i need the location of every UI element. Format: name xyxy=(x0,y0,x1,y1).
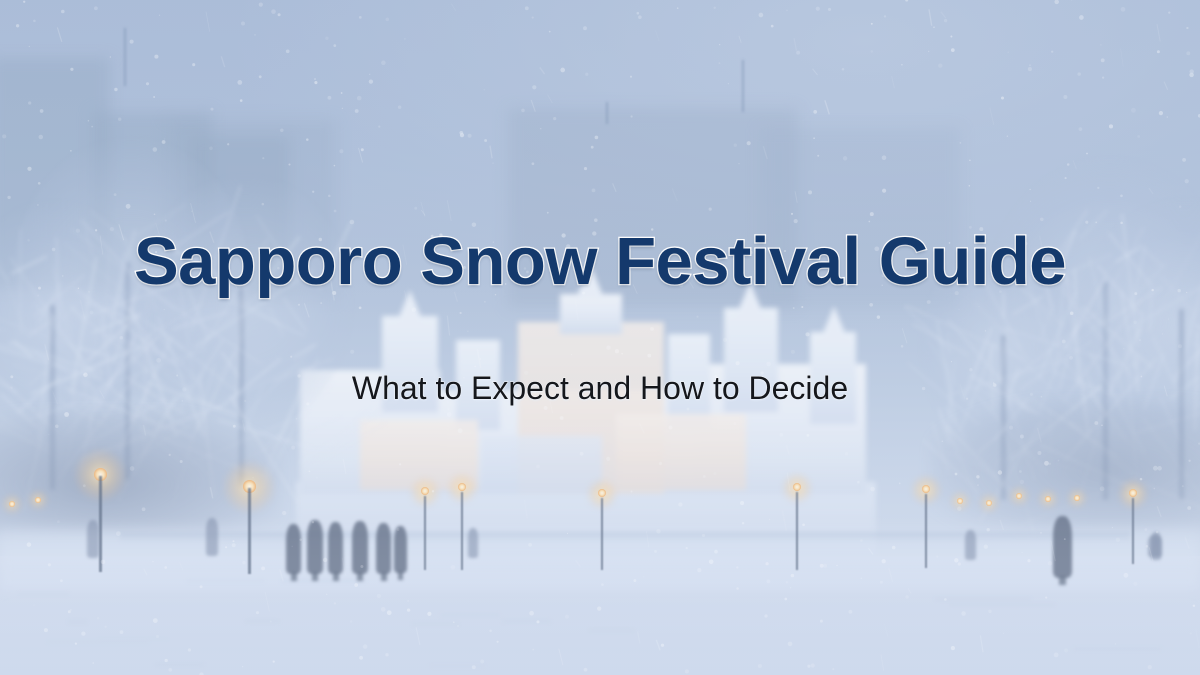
tree-canopy xyxy=(0,199,150,440)
lamp-bulb-icon xyxy=(35,497,41,503)
tree-branch xyxy=(990,343,994,410)
tree-branch xyxy=(27,362,58,387)
tree-branch xyxy=(905,304,1027,361)
tree-branch xyxy=(947,438,1002,485)
tree-branch xyxy=(1130,245,1146,310)
sky-backdrop xyxy=(0,0,1200,675)
tree-branch xyxy=(220,351,240,377)
lamp-bulb-icon xyxy=(598,489,606,497)
tree-branch xyxy=(0,321,72,367)
snow-track-mark xyxy=(281,580,366,582)
tree-branch xyxy=(125,376,184,415)
atmospheric-haze xyxy=(0,0,1200,675)
base-plinth xyxy=(296,482,876,556)
tree-branch xyxy=(1121,214,1139,347)
lamp-6 xyxy=(771,478,823,576)
tree-branch xyxy=(85,302,129,319)
tree-branch xyxy=(117,336,173,455)
tree-branch xyxy=(73,347,107,419)
tree-branch xyxy=(1102,253,1126,277)
tree-branch xyxy=(903,305,953,353)
tree-branch xyxy=(74,287,176,365)
tree-branch xyxy=(1160,275,1194,312)
tree-branch xyxy=(1075,375,1115,510)
tree-right-1 xyxy=(1000,170,1200,500)
tree-branch xyxy=(959,343,996,431)
lamp-bulb-icon xyxy=(1074,495,1080,501)
lamp-glow xyxy=(74,449,126,501)
tree-branch xyxy=(1195,324,1200,349)
tree-branch xyxy=(56,375,136,480)
tree-branch xyxy=(117,295,158,351)
lower-arch xyxy=(482,436,602,494)
tree-branch xyxy=(1193,416,1200,517)
tree-branch xyxy=(65,330,155,435)
tree-branch xyxy=(145,404,189,429)
tree-branch xyxy=(69,305,86,324)
tree-branch xyxy=(1033,246,1074,288)
snow-track-mark xyxy=(412,623,459,625)
tree-branch xyxy=(977,395,1048,474)
tree-branch xyxy=(975,302,1032,363)
tree-branch xyxy=(100,310,112,389)
lamp-14 xyxy=(934,494,986,562)
lamp-glow xyxy=(782,473,812,503)
tree-branch xyxy=(260,384,334,452)
tree-branch xyxy=(85,229,93,256)
tree-branch xyxy=(1075,306,1117,344)
tree-branch xyxy=(172,364,216,506)
visitor-bench xyxy=(1148,535,1162,557)
tree-branch xyxy=(962,327,993,400)
hero-banner: Sapporo Snow Festival Guide What to Expe… xyxy=(0,0,1200,675)
tree-branch xyxy=(201,238,269,349)
tree-branch xyxy=(138,359,194,380)
tree-branch xyxy=(1142,483,1200,531)
tree-branch xyxy=(1039,311,1051,342)
building-silhouette xyxy=(0,58,110,288)
snow-track-mark xyxy=(186,580,266,582)
tree-branch xyxy=(1108,232,1151,285)
tree-branch xyxy=(282,297,308,333)
tree-branch xyxy=(1042,209,1088,279)
tree-branch xyxy=(0,402,35,444)
tree-branch xyxy=(1101,286,1164,326)
antenna-mast xyxy=(742,60,744,112)
lamp-glow xyxy=(1009,486,1029,506)
tree-branch xyxy=(1172,248,1200,338)
tree-branch xyxy=(907,362,980,426)
lamp-glow xyxy=(1067,488,1087,508)
tree-branch xyxy=(1028,349,1067,373)
tree-branch xyxy=(981,277,1022,349)
tree-branch xyxy=(224,290,282,325)
tree-branch xyxy=(141,285,261,364)
tree-branch xyxy=(1147,225,1200,332)
tree-branch xyxy=(84,302,204,373)
tree-branch xyxy=(1005,245,1060,284)
main-body xyxy=(332,390,842,494)
tree-branch xyxy=(107,334,167,357)
tree-branch xyxy=(922,439,980,494)
tree-branch xyxy=(216,358,281,411)
tree-branch xyxy=(33,351,92,387)
visitor-group-c xyxy=(328,522,343,574)
tree-branch xyxy=(1002,292,1004,318)
tree-branch xyxy=(0,414,54,454)
tree-branch xyxy=(27,321,50,337)
tree-branch xyxy=(70,256,97,394)
tree-branch xyxy=(90,210,130,243)
tree-canopy xyxy=(13,137,248,421)
tree-trunk xyxy=(239,288,244,486)
tree-branch xyxy=(85,405,221,459)
tree-branch xyxy=(109,296,186,350)
tree-branch xyxy=(1088,256,1124,394)
tree-branch xyxy=(148,382,240,417)
tree-branch xyxy=(214,326,250,384)
lamp-post xyxy=(1132,498,1134,564)
tree-branch xyxy=(16,377,60,414)
tree-branch xyxy=(947,319,1030,413)
tree-branch xyxy=(927,339,980,418)
tree-branch xyxy=(931,422,950,475)
tree-branch xyxy=(948,332,951,441)
tree-branch xyxy=(0,393,33,434)
tree-branch xyxy=(241,385,263,441)
tree-branch xyxy=(1054,463,1134,489)
visitor-group-d xyxy=(352,521,368,574)
tree-branch xyxy=(158,335,202,387)
tree-branch xyxy=(1019,253,1058,379)
snow-track-mark xyxy=(155,664,204,666)
tree-branch xyxy=(1194,331,1198,431)
tree-branch xyxy=(155,211,229,260)
building-silhouette xyxy=(92,112,212,292)
snow-track-mark xyxy=(18,593,69,595)
lamp-bulb-icon xyxy=(458,483,466,491)
snow-track-mark xyxy=(440,614,500,616)
lamp-8 xyxy=(993,489,1045,569)
tree-canopy xyxy=(1079,198,1200,447)
tree-branch xyxy=(1000,423,1036,537)
lamp-bulb-icon xyxy=(922,485,930,493)
lamp-bulb-icon xyxy=(1016,493,1022,499)
tree-branch xyxy=(190,412,309,464)
lamp-bulb-icon xyxy=(1045,496,1051,502)
tree-branch xyxy=(318,221,352,289)
tree-branch xyxy=(151,322,242,396)
tree-branch xyxy=(170,382,193,407)
tree-branch xyxy=(217,419,314,450)
lamp-post xyxy=(99,476,102,572)
tree-branch xyxy=(79,348,101,486)
tree-branch xyxy=(172,238,195,381)
tree-branch xyxy=(1069,422,1155,488)
lamp-bulb-icon xyxy=(957,498,963,504)
tree-branch xyxy=(1196,318,1200,367)
lamp-post xyxy=(796,492,798,570)
foreground-shrub-mass-left xyxy=(0,412,280,532)
tree-branch xyxy=(1096,264,1142,316)
tree-branch xyxy=(1030,397,1120,459)
lamp-4 xyxy=(436,478,488,576)
tree-branch xyxy=(1127,263,1166,303)
tree-branch xyxy=(2,420,52,447)
lamp-5 xyxy=(576,484,628,576)
tree-branch xyxy=(1043,277,1054,312)
tree-branch xyxy=(20,228,22,336)
lamp-10 xyxy=(1051,491,1103,567)
tree-branch xyxy=(1037,291,1078,380)
lamp-9 xyxy=(1022,492,1074,566)
lamp-glow xyxy=(1118,479,1148,509)
tree-branch xyxy=(1107,227,1144,294)
tree-trunk xyxy=(50,305,55,490)
lamp-bulb-icon xyxy=(9,501,15,507)
tree-branch xyxy=(1110,326,1142,391)
tree-branch xyxy=(84,278,192,318)
lamp-post xyxy=(248,488,251,574)
tree-branch xyxy=(121,335,157,375)
tree-branch xyxy=(912,323,969,356)
tree-branch xyxy=(1078,209,1108,241)
tree-branch xyxy=(65,437,147,465)
tree-branch xyxy=(998,371,1036,481)
tree-right-2 xyxy=(1090,210,1200,500)
tree-branch xyxy=(302,422,387,473)
tree-branch xyxy=(206,416,343,475)
tree-branch xyxy=(1019,341,1092,391)
visitor-group-b xyxy=(307,520,323,574)
tree-branch xyxy=(263,365,311,475)
tree-branch xyxy=(1195,347,1200,389)
tree-branch xyxy=(946,426,1012,493)
tree-branch xyxy=(938,407,950,445)
tree-branch xyxy=(1003,342,1076,410)
tree-branch xyxy=(0,310,124,366)
tree-branch xyxy=(31,346,142,395)
visitor-group-a xyxy=(286,524,301,574)
lamp-glow xyxy=(950,491,970,511)
snow-track-mark xyxy=(98,638,168,640)
tree-branch xyxy=(993,256,1053,325)
snow-track-mark xyxy=(429,665,485,667)
tree-branch xyxy=(293,344,316,359)
tree-branch xyxy=(48,293,89,334)
spire-mid xyxy=(576,264,604,298)
tree-branch xyxy=(85,320,100,388)
tree-branch xyxy=(1168,376,1197,401)
tree-branch xyxy=(229,395,299,504)
tree-branch xyxy=(1061,357,1128,440)
lamp-bulb-icon xyxy=(421,487,429,495)
lamp-11 xyxy=(1107,484,1159,570)
tree-branch xyxy=(111,388,210,476)
tree-branch xyxy=(195,350,237,433)
tree-branch xyxy=(0,342,59,434)
tree-branch xyxy=(8,341,104,374)
tree-branch xyxy=(1157,426,1200,490)
tree-branch xyxy=(1136,397,1200,434)
visitor-mid xyxy=(468,528,478,558)
tree-branch xyxy=(1172,338,1200,381)
snow-track-mark xyxy=(47,641,149,643)
lamp-glow xyxy=(223,461,275,513)
tree-branch xyxy=(30,402,78,420)
tree-branch xyxy=(12,364,165,409)
tree-branch xyxy=(52,265,74,349)
park-railing xyxy=(120,532,1130,541)
tree-branch xyxy=(166,245,237,287)
lamp-post xyxy=(925,494,927,568)
tree-branch xyxy=(55,393,82,519)
tree-branch xyxy=(1135,353,1139,393)
tree-branch xyxy=(100,250,110,381)
tree-branch xyxy=(1179,342,1183,409)
tree-branch xyxy=(1050,407,1052,476)
warm-relief-right xyxy=(616,414,746,490)
tree-branch xyxy=(78,346,110,357)
left-wing xyxy=(300,370,440,494)
tree-branch xyxy=(198,374,214,496)
tree-branch xyxy=(1058,306,1083,390)
tree-branch xyxy=(1012,296,1044,316)
snow-track-mark xyxy=(502,620,551,622)
tree-branch xyxy=(1051,230,1076,286)
tree-branch xyxy=(9,257,92,373)
tree-branch xyxy=(172,311,229,330)
visitor-right-far xyxy=(965,530,976,560)
lamp-12 xyxy=(0,497,38,569)
tree-branch xyxy=(1001,327,1122,365)
building-silhouette xyxy=(508,108,798,308)
tree-branch xyxy=(94,334,137,413)
snow-ground xyxy=(0,556,1200,675)
lamp-glow xyxy=(28,490,48,510)
tree-branch xyxy=(121,427,188,468)
tree-branch xyxy=(1050,254,1111,280)
lamp-bulb-icon xyxy=(1129,489,1137,497)
tree-branch xyxy=(1009,385,1102,461)
tree-branch xyxy=(1039,444,1144,494)
tree-branch xyxy=(1109,358,1143,382)
snow-track-mark xyxy=(68,621,86,623)
right-wing xyxy=(700,364,866,494)
tree-branch xyxy=(0,356,17,393)
center-keep xyxy=(518,322,664,494)
tree-branch xyxy=(1052,370,1120,398)
tree-branch xyxy=(1022,288,1065,327)
tree-branch xyxy=(0,347,101,379)
tree-branch xyxy=(979,421,1043,521)
lamp-glow xyxy=(447,473,477,503)
lamp-3 xyxy=(399,482,451,576)
visitor-far-left xyxy=(87,520,99,558)
tree-branch xyxy=(229,299,305,336)
tree-branch xyxy=(33,274,84,316)
tree-branch xyxy=(66,388,194,439)
tree-left-2 xyxy=(150,186,340,486)
tree-branch xyxy=(269,236,300,276)
lamp-glow xyxy=(1038,489,1058,509)
tree-branch xyxy=(79,348,208,396)
tree-branch xyxy=(143,298,148,455)
tree-branch xyxy=(1061,288,1137,382)
lamp-glow xyxy=(587,479,617,509)
tree-canopy xyxy=(139,174,352,432)
tree-branch xyxy=(1128,286,1200,330)
far-right-turret xyxy=(810,332,856,424)
tree-branch xyxy=(112,242,154,364)
building-silhouette xyxy=(760,128,960,308)
tree-left-1 xyxy=(26,150,236,480)
snow-track-mark xyxy=(1073,648,1162,650)
tree-branch xyxy=(1169,310,1200,399)
tree-right-3 xyxy=(930,250,1080,500)
lamp-post xyxy=(601,498,603,570)
tree-canopy xyxy=(921,240,1089,455)
tree-branch xyxy=(1020,478,1136,526)
tree-branch xyxy=(50,339,173,437)
spire-left xyxy=(396,290,424,324)
visitor-group-f xyxy=(394,526,407,573)
tree-branch xyxy=(117,395,177,501)
visitor-right-edge xyxy=(1151,532,1161,560)
tree-branch xyxy=(112,230,136,317)
visitor-group-e xyxy=(376,523,391,574)
tree-branch xyxy=(273,358,334,382)
tree-trunk xyxy=(1103,282,1108,500)
snow-castle-sculpture xyxy=(286,286,886,556)
tree-branch xyxy=(11,255,48,275)
tree-branch xyxy=(136,204,186,235)
tree-branch xyxy=(1037,340,1068,416)
lamp-1 xyxy=(74,462,126,578)
lamp-bulb-icon xyxy=(986,500,992,506)
visitor-lone-right xyxy=(1053,516,1072,578)
snow-track-mark xyxy=(949,604,1056,606)
tree-branch xyxy=(122,236,157,310)
tree-branch xyxy=(85,312,142,363)
tree-branch xyxy=(1063,298,1143,400)
tree-branch xyxy=(80,219,149,290)
foreground-shrub-mass-right xyxy=(930,400,1200,530)
lamp-glow xyxy=(911,475,941,505)
tree-branch xyxy=(242,342,319,419)
tree-branch xyxy=(310,390,385,469)
tree-branch xyxy=(1142,417,1200,524)
tree-branch xyxy=(946,358,956,434)
tree-branch xyxy=(71,228,177,310)
visitor-mid-left xyxy=(206,518,218,556)
tree-branch xyxy=(1120,291,1135,370)
tree-branch xyxy=(999,326,1009,384)
tree-branch xyxy=(130,304,178,438)
tree-branch xyxy=(977,424,1009,453)
tree-branch xyxy=(179,339,224,410)
left-turret xyxy=(382,316,438,412)
snow-track-mark xyxy=(245,620,280,622)
ground-snow-haze xyxy=(0,520,1200,590)
tree-branch xyxy=(1064,276,1107,349)
tree-branch xyxy=(1010,367,1021,390)
hero-text-block: Sapporo Snow Festival Guide What to Expe… xyxy=(0,0,1200,675)
tree-branch xyxy=(1126,348,1138,488)
tree-branch xyxy=(1067,421,1139,481)
tree-branch xyxy=(1192,343,1200,372)
tree-branch xyxy=(138,427,267,480)
